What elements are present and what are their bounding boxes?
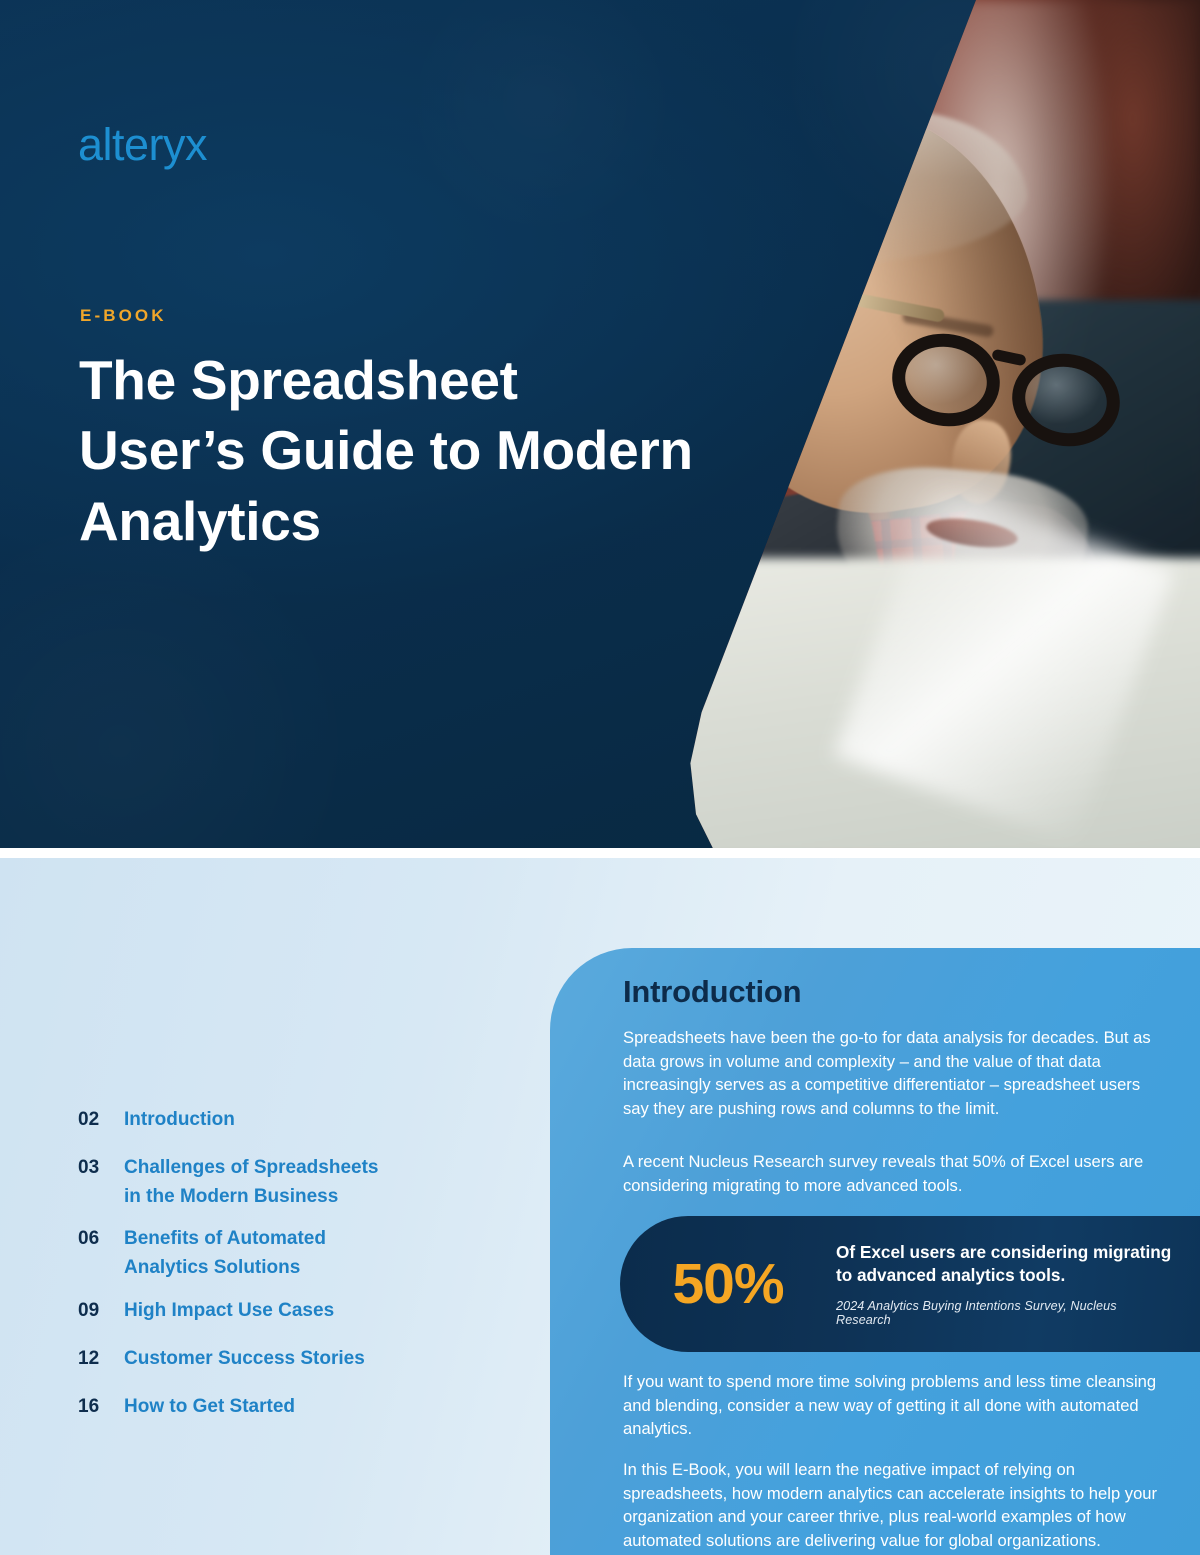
stat-statement: Of Excel users are considering migrating… bbox=[836, 1241, 1172, 1286]
toc-label: High Impact Use Cases bbox=[124, 1297, 334, 1326]
toc-item-how-to-get-started[interactable]: 16 How to Get Started bbox=[78, 1393, 295, 1422]
photo-ear bbox=[710, 315, 777, 402]
toc-label: How to Get Started bbox=[124, 1393, 295, 1422]
toc-item-high-impact-use-cases[interactable]: 09 High Impact Use Cases bbox=[78, 1297, 334, 1326]
introduction-heading: Introduction bbox=[623, 974, 801, 1010]
toc-label: Challenges of Spreadsheets in the Modern… bbox=[124, 1154, 378, 1211]
toc-item-introduction[interactable]: 02 Introduction bbox=[78, 1106, 235, 1135]
introduction-paragraph-3: If you want to spend more time solving p… bbox=[623, 1370, 1163, 1441]
stat-citation: 2024 Analytics Buying Intentions Survey,… bbox=[836, 1299, 1174, 1327]
introduction-panel: Introduction Spreadsheets have been the … bbox=[550, 948, 1200, 1555]
toc-page-number: 16 bbox=[78, 1393, 124, 1422]
toc-page-number: 03 bbox=[78, 1154, 124, 1183]
alteryx-logo: alteryx bbox=[78, 122, 207, 167]
toc-label: Customer Success Stories bbox=[124, 1345, 365, 1374]
toc-page-number: 09 bbox=[78, 1297, 124, 1326]
cover-section: alteryx E-BOOK The Spreadsheet User’s Gu… bbox=[0, 0, 1200, 848]
contents-and-intro-page: 02 Introduction 03 Challenges of Spreads… bbox=[0, 858, 1200, 1555]
ebook-page: alteryx E-BOOK The Spreadsheet User’s Gu… bbox=[0, 0, 1200, 1555]
stat-callout-body: Of Excel users are considering migrating… bbox=[836, 1241, 1200, 1326]
toc-page-number: 02 bbox=[78, 1106, 124, 1135]
toc-page-number: 06 bbox=[78, 1225, 124, 1254]
stat-value: 50% bbox=[620, 1251, 836, 1317]
introduction-paragraph-2: A recent Nucleus Research survey reveals… bbox=[623, 1150, 1163, 1197]
stat-callout: 50% Of Excel users are considering migra… bbox=[620, 1216, 1200, 1352]
toc-label: Introduction bbox=[124, 1106, 235, 1135]
toc-label: Benefits of Automated Analytics Solution… bbox=[124, 1225, 326, 1282]
toc-item-challenges-of-spreadsheets[interactable]: 03 Challenges of Spreadsheets in the Mod… bbox=[78, 1154, 378, 1211]
toc-item-customer-success-stories[interactable]: 12 Customer Success Stories bbox=[78, 1345, 365, 1374]
toc-item-benefits-of-automated-analytics[interactable]: 06 Benefits of Automated Analytics Solut… bbox=[78, 1225, 326, 1282]
photo-scene bbox=[640, 0, 1200, 848]
cover-eyebrow: E-BOOK bbox=[80, 306, 167, 326]
introduction-paragraph-4: In this E-Book, you will learn the negat… bbox=[623, 1458, 1163, 1552]
toc-page-number: 12 bbox=[78, 1345, 124, 1374]
cover-photo bbox=[640, 0, 1200, 848]
cover-title: The Spreadsheet User’s Guide to Modern A… bbox=[79, 345, 699, 556]
introduction-paragraph-1: Spreadsheets have been the go-to for dat… bbox=[623, 1026, 1163, 1120]
